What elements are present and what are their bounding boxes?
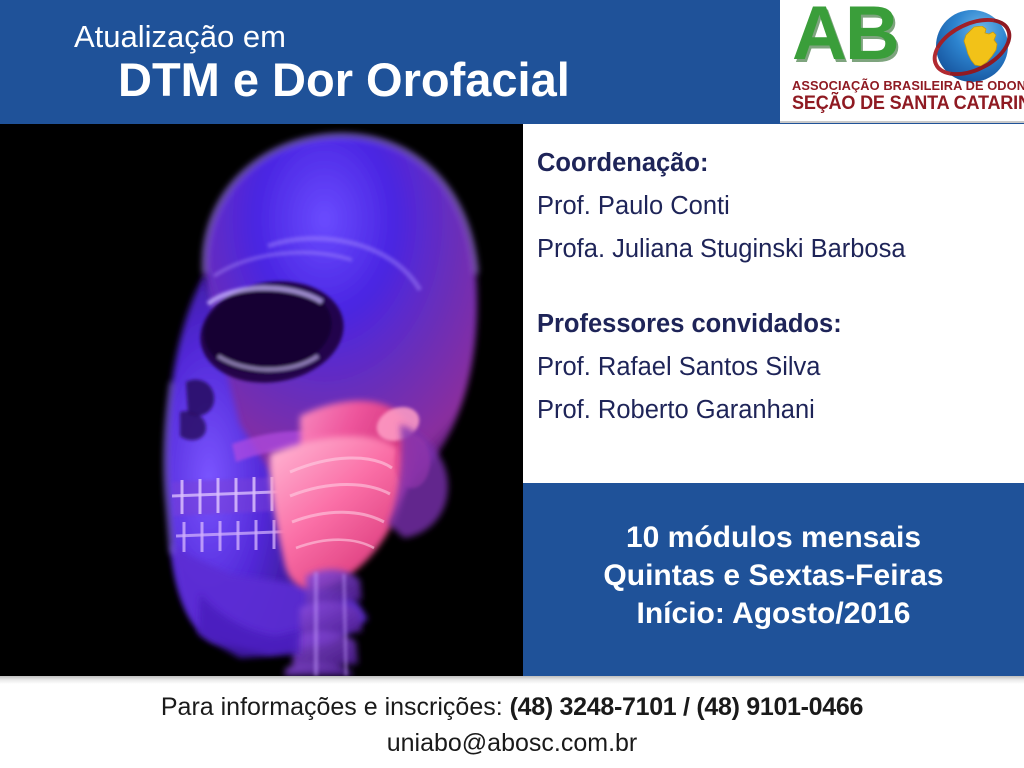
- footer-info-label: Para informações e inscrições:: [161, 693, 510, 721]
- footer-contact-line: Para informações e inscrições: (48) 3248…: [0, 693, 1024, 722]
- faculty-list: Coordenação: Prof. Paulo Conti Profa. Ju…: [537, 142, 1017, 432]
- footer-phones: (48) 3248-7101 / (48) 9101-0466: [510, 693, 863, 721]
- guests-heading: Professores convidados:: [537, 303, 1017, 346]
- schedule-lines: 10 módulos mensais Quintas e Sextas-Feir…: [523, 519, 1024, 633]
- footer-email[interactable]: uniabo@abosc.com.br: [0, 729, 1024, 758]
- guest-name: Prof. Roberto Garanhani: [537, 389, 1017, 432]
- coordinator-name: Profa. Juliana Stuginski Barbosa: [537, 228, 1017, 271]
- guest-name: Prof. Rafael Santos Silva: [537, 346, 1017, 389]
- faculty-spacer: [537, 271, 1017, 303]
- schedule-days: Quintas e Sextas-Feiras: [523, 557, 1024, 595]
- schedule-modules: 10 módulos mensais: [523, 519, 1024, 557]
- globe-brazil-icon: [932, 6, 1012, 86]
- schedule-start: Início: Agosto/2016: [523, 595, 1024, 633]
- footer-divider: [0, 676, 1024, 684]
- abo-letters: AB: [792, 0, 898, 72]
- footer: Para informações e inscrições: (48) 3248…: [0, 676, 1024, 768]
- title-block: Atualização em DTM e Dor Orofacial: [0, 0, 780, 124]
- coordination-heading: Coordenação:: [537, 142, 1017, 185]
- schedule-box: 10 módulos mensais Quintas e Sextas-Feir…: [523, 483, 1024, 676]
- poster-root: Atualização em DTM e Dor Orofacial AB AS…: [0, 0, 1024, 768]
- title-eyebrow: Atualização em: [74, 21, 286, 52]
- logo-section-line: SEÇÃO DE SANTA CATARINA: [792, 93, 1024, 115]
- skull-image-panel: [0, 124, 523, 676]
- page-title: DTM e Dor Orofacial: [118, 56, 570, 103]
- abo-logo: AB ASSOCIAÇÃO BRASILEIRA DE ODONTOLOGIA …: [780, 0, 1024, 123]
- faculty-panel: Coordenação: Prof. Paulo Conti Profa. Ju…: [523, 124, 1024, 483]
- abo-logo-inner: AB ASSOCIAÇÃO BRASILEIRA DE ODONTOLOGIA …: [780, 0, 1024, 121]
- coordinator-name: Prof. Paulo Conti: [537, 185, 1017, 228]
- logo-association-line: ASSOCIAÇÃO BRASILEIRA DE ODONTOLOGIA: [792, 78, 1024, 93]
- skull-xray-illustration: [0, 124, 523, 676]
